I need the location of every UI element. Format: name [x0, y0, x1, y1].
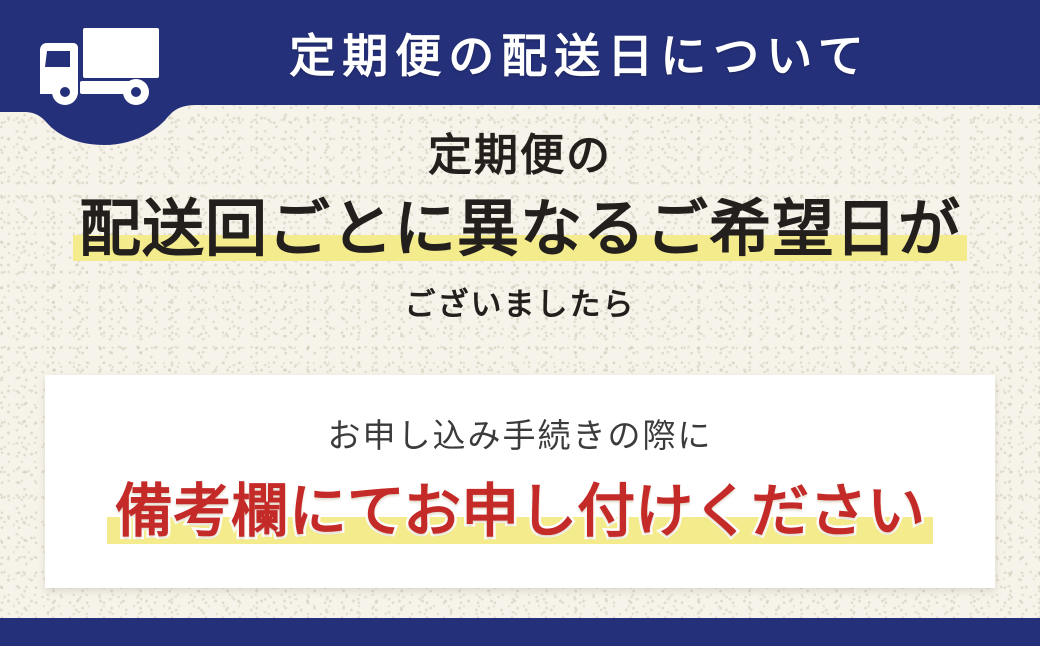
- main-message-block: 定期便の 配送回ごとに異なるご希望日が ございましたら: [0, 128, 1040, 324]
- message-line-1: 定期便の: [0, 128, 1040, 183]
- footer-bar: [0, 618, 1040, 646]
- card-line-2-text: 備考欄にてお申し付けください: [115, 477, 925, 545]
- card-line-2-highlighted: 備考欄にてお申し付けください: [107, 475, 933, 548]
- message-line-3: ございましたら: [0, 279, 1040, 324]
- message-line-2-highlighted: 配送回ごとに異なるご希望日が: [73, 191, 967, 267]
- delivery-notice-banner: 定期便の配送日について 定期便の 配送回ごとに異なるご希望日が ございましたら …: [0, 0, 1040, 646]
- message-line-2-text: 配送回ごとに異なるご希望日が: [79, 192, 961, 265]
- card-line-1: お申し込み手続きの際に: [45, 409, 995, 457]
- instruction-card: お申し込み手続きの際に 備考欄にてお申し付けください: [45, 375, 995, 588]
